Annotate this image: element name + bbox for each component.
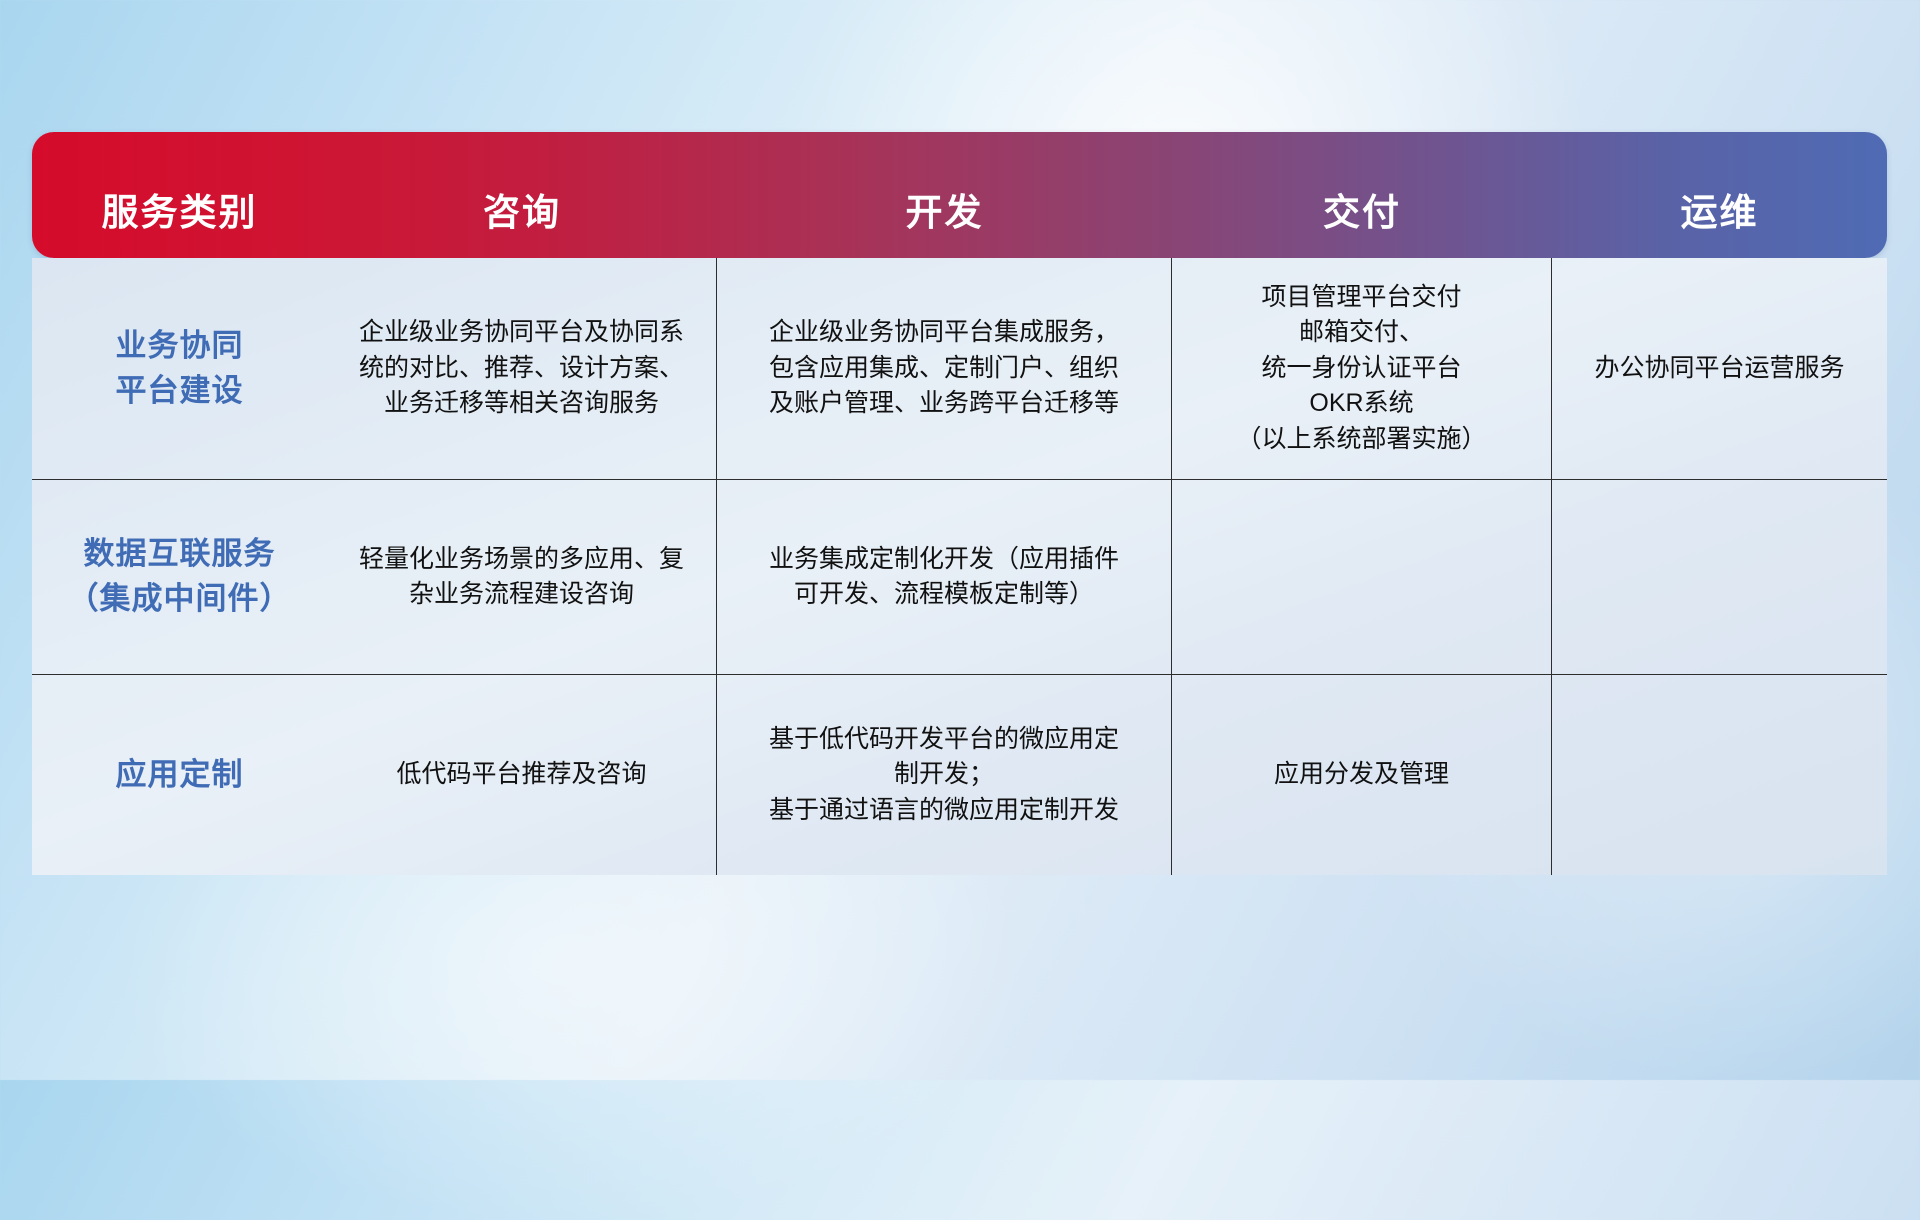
column-header-development: 开发	[717, 132, 1172, 258]
cell-development: 业务集成定制化开发（应用插件 可开发、流程模板定制等）	[717, 480, 1172, 674]
row-category-label: 数据互联服务 （集成中间件）	[32, 480, 327, 674]
table-header-row: 服务类别 咨询 开发 交付 运维	[32, 132, 1887, 258]
column-header-delivery: 交付	[1172, 132, 1552, 258]
cell-delivery: 项目管理平台交付 邮箱交付、 统一身份认证平台 OKR系统 （以上系统部署实施）	[1172, 258, 1552, 479]
service-matrix-table: 服务类别 咨询 开发 交付 运维 业务协同 平台建设 企业级业务协同平台及协同系…	[32, 132, 1887, 875]
cell-operations	[1552, 480, 1887, 674]
column-header-operations: 运维	[1552, 132, 1887, 258]
table-body: 业务协同 平台建设 企业级业务协同平台及协同系 统的对比、推荐、设计方案、 业务…	[32, 258, 1887, 875]
table-row: 业务协同 平台建设 企业级业务协同平台及协同系 统的对比、推荐、设计方案、 业务…	[32, 258, 1887, 480]
cell-operations: 办公协同平台运营服务	[1552, 258, 1887, 479]
row-category-label: 业务协同 平台建设	[32, 258, 327, 479]
column-header-consulting: 咨询	[327, 132, 717, 258]
cell-development: 企业级业务协同平台集成服务， 包含应用集成、定制门户、组织 及账户管理、业务跨平…	[717, 258, 1172, 479]
column-header-category: 服务类别	[32, 132, 327, 258]
table-row: 应用定制 低代码平台推荐及咨询 基于低代码开发平台的微应用定 制开发； 基于通过…	[32, 675, 1887, 875]
cell-consulting: 低代码平台推荐及咨询	[327, 675, 717, 875]
cell-consulting: 企业级业务协同平台及协同系 统的对比、推荐、设计方案、 业务迁移等相关咨询服务	[327, 258, 717, 479]
cell-delivery	[1172, 480, 1552, 674]
row-category-label: 应用定制	[32, 675, 327, 875]
cell-development: 基于低代码开发平台的微应用定 制开发； 基于通过语言的微应用定制开发	[717, 675, 1172, 875]
cell-delivery: 应用分发及管理	[1172, 675, 1552, 875]
cell-operations	[1552, 675, 1887, 875]
cell-consulting: 轻量化业务场景的多应用、复 杂业务流程建设咨询	[327, 480, 717, 674]
table-row: 数据互联服务 （集成中间件） 轻量化业务场景的多应用、复 杂业务流程建设咨询 业…	[32, 480, 1887, 675]
